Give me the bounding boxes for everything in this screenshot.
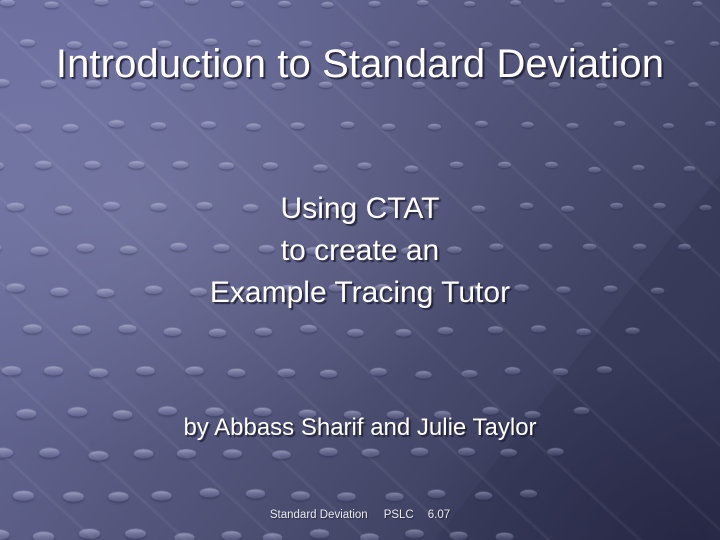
slide-body: Using CTAT to create an Example Tracing … (60, 188, 660, 314)
footer-topic: Standard Deviation (270, 507, 368, 523)
footer-version: 6.07 (428, 507, 450, 523)
slide-byline: by Abbass Sharif and Julie Taylor (60, 412, 660, 444)
footer-organization: PSLC (384, 507, 414, 523)
slide-title: Introduction to Standard Deviation (40, 40, 680, 88)
body-line-3: Example Tracing Tutor (60, 272, 660, 314)
slide-footer: Standard DeviationPSLC6.07 (0, 507, 720, 523)
body-line-1: Using CTAT (60, 188, 660, 230)
presentation-slide: Introduction to Standard Deviation Using… (0, 0, 720, 540)
body-line-2: to create an (60, 230, 660, 272)
